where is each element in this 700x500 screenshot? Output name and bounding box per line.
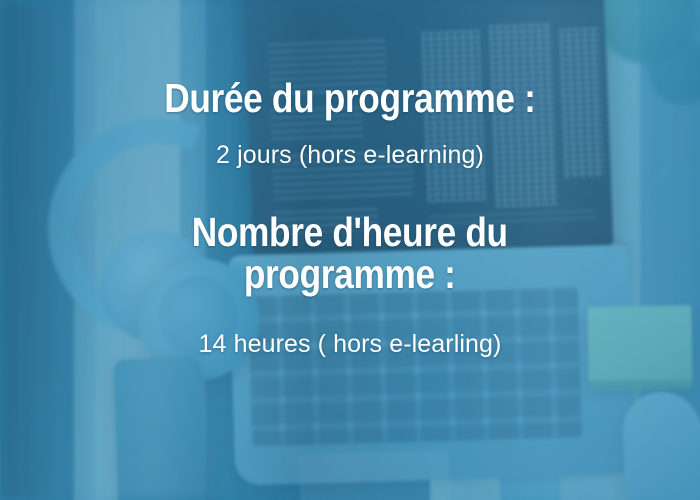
program-hours-value: 14 heures ( hors e-learling) (199, 329, 502, 359)
banner-text-content: Durée du programme : 2 jours (hors e-lea… (0, 0, 700, 500)
program-duration-value: 2 jours (hors e-learning) (216, 140, 484, 170)
program-duration-heading: Durée du programme : (164, 78, 535, 120)
promo-banner: Durée du programme : 2 jours (hors e-lea… (0, 0, 700, 500)
program-hours-heading: Nombre d'heure du programme : (192, 212, 508, 296)
